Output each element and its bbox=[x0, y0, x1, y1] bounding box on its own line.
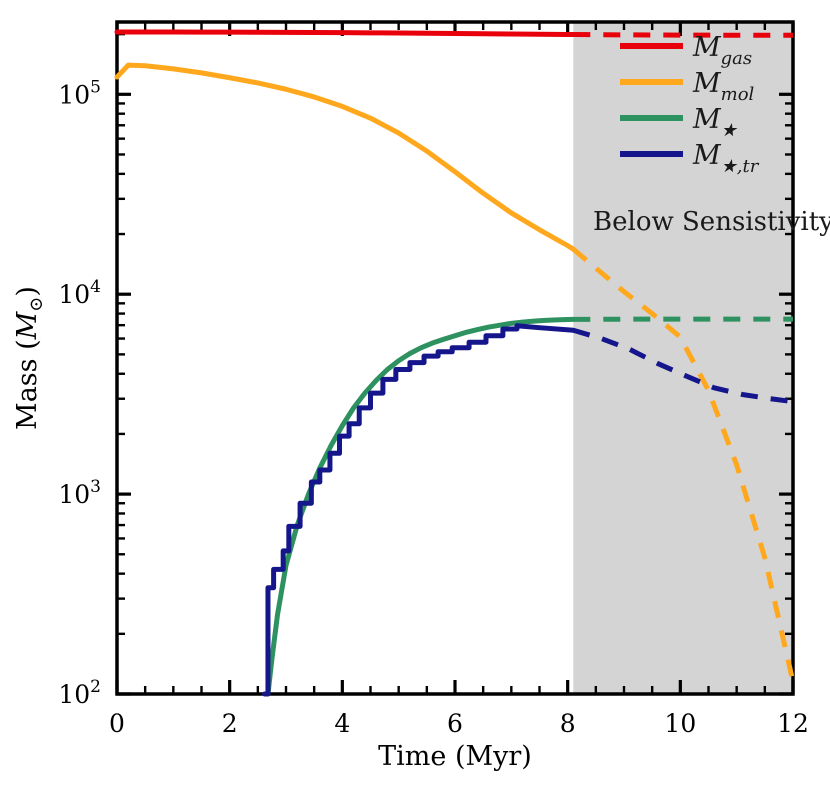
x-axis-title: Time (Myr) bbox=[378, 741, 532, 772]
x-tick-label: 2 bbox=[222, 709, 238, 738]
y-tick-label: 105 bbox=[58, 77, 101, 109]
below-sensitivity-annotation: Below Sensistivity bbox=[593, 207, 830, 237]
chart-canvas: 024681012 102103104105 Time (Myr) Mass (… bbox=[0, 0, 830, 796]
y-axis-title: Mass (M⊙) bbox=[12, 286, 47, 430]
y-tick-label: 104 bbox=[58, 277, 101, 309]
x-tick-label: 12 bbox=[777, 709, 809, 738]
below-sensitivity-shaded-region bbox=[573, 22, 793, 694]
x-tick-label: 8 bbox=[560, 709, 576, 738]
figure-container: 024681012 102103104105 Time (Myr) Mass (… bbox=[0, 0, 830, 796]
x-tick-label: 4 bbox=[334, 709, 350, 738]
y-tick-label: 102 bbox=[58, 677, 101, 709]
svg-text:Mass (M⊙): Mass (M⊙) bbox=[12, 286, 47, 430]
series-line-solid-M_mol bbox=[117, 65, 573, 249]
x-axis-tick-labels: 024681012 bbox=[109, 709, 809, 738]
y-axis-tick-labels: 102103104105 bbox=[58, 77, 101, 709]
y-tick-label: 103 bbox=[58, 477, 101, 509]
x-tick-label: 10 bbox=[664, 709, 696, 738]
series-line-solid-M_star bbox=[268, 319, 573, 694]
x-tick-label: 6 bbox=[447, 709, 463, 738]
series-line-solid-M_star_tr bbox=[265, 326, 574, 694]
series-line-solid-M_gas bbox=[117, 32, 573, 35]
x-tick-label: 0 bbox=[109, 709, 125, 738]
